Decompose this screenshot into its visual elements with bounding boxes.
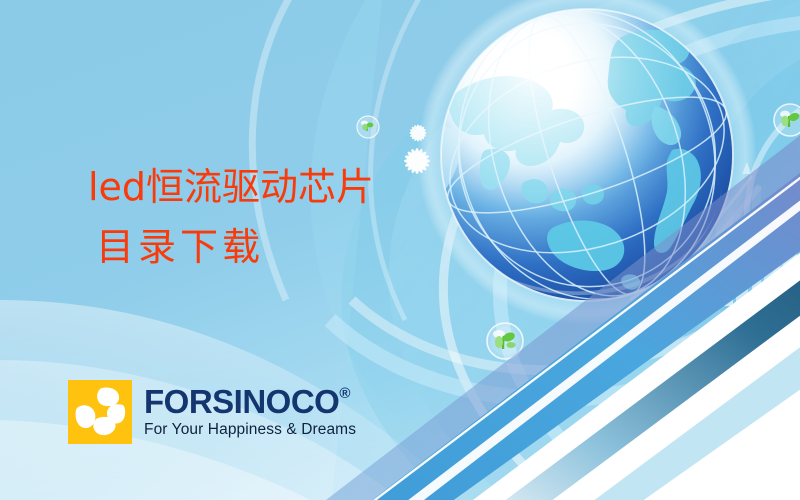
bubble-with-green-sprout bbox=[357, 116, 379, 138]
logo-text-block: FORSINOCO ® For Your Happiness & Dreams bbox=[144, 385, 356, 439]
logo-wordmark-text: FORSINOCO bbox=[144, 385, 339, 418]
bubble-with-green-sprout bbox=[774, 104, 800, 136]
logo-wordmark: FORSINOCO ® bbox=[144, 385, 356, 418]
logo-tagline: For Your Happiness & Dreams bbox=[144, 421, 356, 439]
registered-trademark-symbol: ® bbox=[339, 386, 350, 401]
white-starburst-flower bbox=[404, 148, 430, 174]
company-logo: FORSINOCO ® For Your Happiness & Dreams bbox=[68, 380, 356, 444]
logo-mark-icon bbox=[68, 380, 132, 444]
pinwheel-flower-icon bbox=[68, 380, 132, 444]
poster-canvas: led恒流驱动芯片 目录下载 FORSINOCO ® For Your Happ… bbox=[0, 0, 800, 500]
